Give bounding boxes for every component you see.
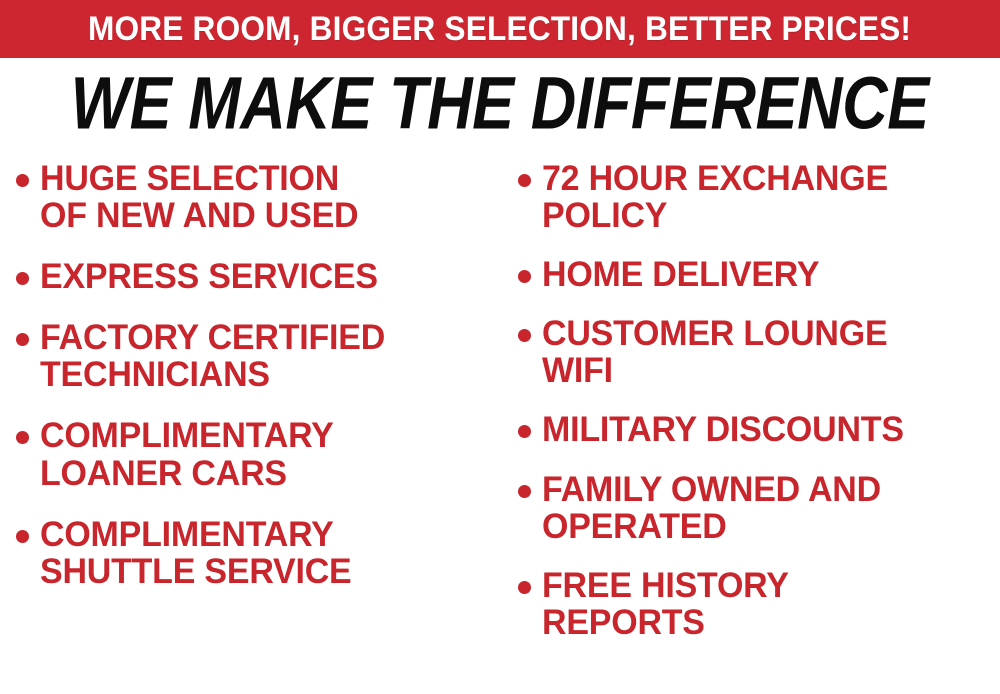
bullet-dot-icon (16, 333, 29, 346)
benefits-column-right: 72 HOUR EXCHANGE POLICY HOME DELIVERY CU… (518, 160, 1000, 663)
top-banner: MORE ROOM, BIGGER SELECTION, BETTER PRIC… (0, 0, 1000, 58)
bullet-dot-icon (518, 329, 531, 342)
bullet-dot-icon (16, 272, 29, 285)
list-item: HOME DELIVERY (518, 256, 1000, 293)
bullet-dot-icon (518, 270, 531, 283)
headline-text: WE MAKE THE DIFFERENCE (71, 66, 929, 140)
top-banner-text: MORE ROOM, BIGGER SELECTION, BETTER PRIC… (88, 12, 911, 46)
list-item-label: FACTORY CERTIFIED TECHNICIANS (40, 319, 385, 393)
list-item: FAMILY OWNED AND OPERATED (518, 471, 1000, 545)
list-item: 72 HOUR EXCHANGE POLICY (518, 160, 1000, 234)
list-item-label: HUGE SELECTION OF NEW AND USED (40, 160, 358, 234)
list-item: COMPLIMENTARY LOANER CARS (16, 417, 506, 491)
list-item-label: COMPLIMENTARY SHUTTLE SERVICE (40, 516, 352, 590)
bullet-dot-icon (518, 425, 531, 438)
bullet-dot-icon (518, 485, 531, 498)
benefits-columns: HUGE SELECTION OF NEW AND USED EXPRESS S… (0, 160, 1000, 694)
list-item: FACTORY CERTIFIED TECHNICIANS (16, 319, 506, 393)
list-item-label: FAMILY OWNED AND OPERATED (542, 471, 881, 545)
list-item: HUGE SELECTION OF NEW AND USED (16, 160, 506, 234)
list-item-label: EXPRESS SERVICES (40, 258, 378, 295)
list-item: COMPLIMENTARY SHUTTLE SERVICE (16, 516, 506, 590)
list-item: FREE HISTORY REPORTS (518, 567, 1000, 641)
bullet-dot-icon (518, 174, 531, 187)
list-item: EXPRESS SERVICES (16, 258, 506, 295)
list-item: MILITARY DISCOUNTS (518, 411, 1000, 448)
list-item-label: CUSTOMER LOUNGE WIFI (542, 315, 887, 389)
list-item-label: COMPLIMENTARY LOANER CARS (40, 417, 334, 491)
list-item-label: MILITARY DISCOUNTS (542, 411, 904, 448)
list-item: CUSTOMER LOUNGE WIFI (518, 315, 1000, 389)
bullet-dot-icon (16, 174, 29, 187)
bullet-dot-icon (518, 581, 531, 594)
dealership-promo-banner: MORE ROOM, BIGGER SELECTION, BETTER PRIC… (0, 0, 1000, 694)
bullet-dot-icon (16, 431, 29, 444)
list-item-label: FREE HISTORY REPORTS (542, 567, 789, 641)
list-item-label: HOME DELIVERY (542, 256, 819, 293)
bullet-dot-icon (16, 530, 29, 543)
headline: WE MAKE THE DIFFERENCE (0, 66, 1000, 136)
benefits-column-left: HUGE SELECTION OF NEW AND USED EXPRESS S… (16, 160, 506, 614)
list-item-label: 72 HOUR EXCHANGE POLICY (542, 160, 888, 234)
